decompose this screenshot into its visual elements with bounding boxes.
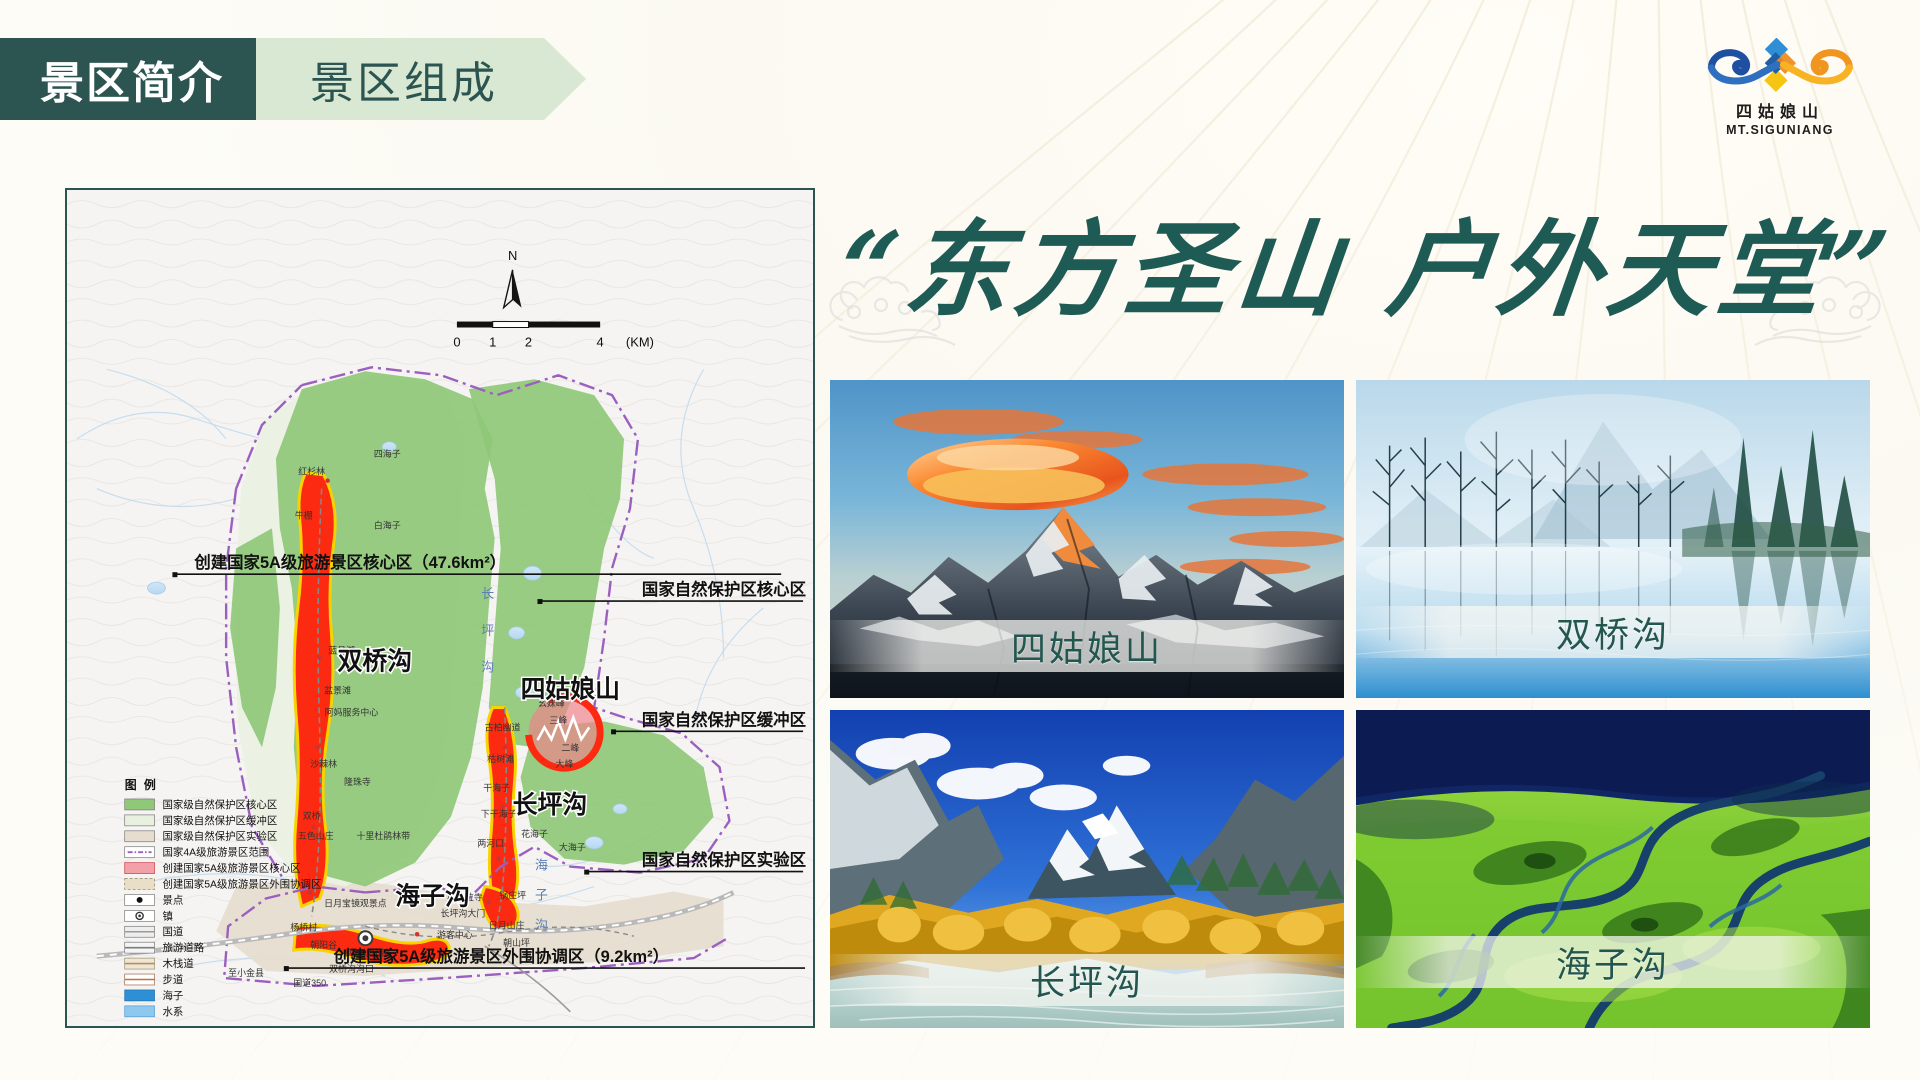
svg-text:国道: 国道 bbox=[162, 925, 183, 938]
siguniang-ribbon-logo-icon bbox=[1702, 38, 1859, 96]
svg-text:4: 4 bbox=[597, 334, 604, 349]
scenic-area-map[interactable]: 幺妹峰 三峰 二峰 大峰 红杉林 牛棚 白海子 四海子 蓝月湖 盆景滩 bbox=[65, 188, 815, 1028]
slogan-text: “东方圣山 户外天堂” bbox=[832, 195, 1878, 345]
svg-text:日月宝镜观景点: 日月宝镜观景点 bbox=[324, 897, 387, 908]
svg-text:四姑娘山: 四姑娘山 bbox=[521, 675, 620, 704]
svg-text:坪: 坪 bbox=[481, 623, 496, 638]
photo-caption-siguniangshan: 四姑娘山 bbox=[830, 620, 1344, 672]
svg-text:创建国家5A级旅游景区外围协调区（9.2km²）: 创建国家5A级旅游景区外围协调区（9.2km²） bbox=[333, 947, 669, 966]
svg-text:1: 1 bbox=[489, 334, 496, 349]
svg-text:白海子: 白海子 bbox=[374, 519, 401, 530]
svg-text:国道350: 国道350 bbox=[293, 977, 326, 988]
tab-section-intro[interactable]: 景区简介 bbox=[0, 38, 300, 120]
svg-text:三峰: 三峰 bbox=[549, 715, 567, 725]
svg-text:国家自然保护区核心区: 国家自然保护区核心区 bbox=[642, 580, 806, 599]
svg-text:下干海子: 下干海子 bbox=[481, 808, 517, 819]
logo-chinese-name: 四姑娘山 bbox=[1692, 98, 1868, 122]
svg-text:国家级自然保护区缓冲区: 国家级自然保护区缓冲区 bbox=[162, 814, 277, 827]
logo-english-name: MT.SIGUNIANG bbox=[1692, 123, 1868, 137]
svg-text:至小金县: 至小金县 bbox=[228, 967, 264, 978]
svg-text:海: 海 bbox=[535, 858, 550, 873]
svg-text:长坪沟: 长坪沟 bbox=[513, 790, 588, 819]
photo-caption-changpinggou: 长坪沟 bbox=[830, 954, 1344, 1006]
svg-text:古柏幽道: 古柏幽道 bbox=[485, 721, 521, 732]
svg-text:国家自然保护区缓冲区: 国家自然保护区缓冲区 bbox=[642, 710, 806, 729]
svg-text:大海子: 大海子 bbox=[559, 842, 586, 853]
svg-text:创建国家5A级旅游景区核心区: 创建国家5A级旅游景区核心区 bbox=[162, 862, 300, 875]
svg-text:海子沟: 海子沟 bbox=[395, 881, 470, 910]
photo-card-changpinggou[interactable]: 长坪沟 bbox=[830, 710, 1344, 1028]
svg-text:步道: 步道 bbox=[162, 973, 183, 986]
svg-text:长: 长 bbox=[481, 586, 496, 601]
svg-text:镇: 镇 bbox=[162, 909, 172, 922]
svg-text:干海子: 干海子 bbox=[483, 782, 510, 793]
map-canvas: 幺妹峰 三峰 二峰 大峰 红杉林 牛棚 白海子 四海子 蓝月湖 盆景滩 bbox=[67, 190, 813, 1026]
svg-text:十里杜鹃林带: 十里杜鹃林带 bbox=[356, 830, 410, 841]
section-header-banner: 景区简介 景区组成 bbox=[0, 38, 586, 120]
svg-text:红杉林: 红杉林 bbox=[298, 466, 325, 477]
svg-text:创建国家5A级旅游景区外围协调区: 创建国家5A级旅游景区外围协调区 bbox=[162, 878, 321, 891]
svg-text:游客中心: 游客中心 bbox=[437, 929, 473, 940]
svg-text:两河口: 两河口 bbox=[477, 838, 504, 849]
svg-text:阿妈服务中心: 阿妈服务中心 bbox=[325, 706, 379, 717]
photo-card-haizigou[interactable]: 海子沟 bbox=[1356, 710, 1870, 1028]
svg-text:国家级自然保护区核心区: 国家级自然保护区核心区 bbox=[162, 798, 277, 811]
svg-text:杨桥村: 杨桥村 bbox=[290, 921, 317, 932]
svg-text:水系: 水系 bbox=[162, 1006, 183, 1018]
town-marker bbox=[358, 931, 372, 945]
svg-text:四海子: 四海子 bbox=[374, 448, 401, 459]
svg-text:旅游道路: 旅游道路 bbox=[162, 941, 204, 954]
svg-text:锅庄坪: 锅庄坪 bbox=[499, 889, 526, 900]
photo-caption-haizigou: 海子沟 bbox=[1356, 936, 1870, 988]
svg-text:海子: 海子 bbox=[162, 989, 183, 1002]
svg-text:五色山庄: 五色山庄 bbox=[298, 830, 334, 841]
svg-text:双桥: 双桥 bbox=[303, 810, 321, 821]
svg-text:创建国家5A级旅游景区核心区（47.6km²）: 创建国家5A级旅游景区核心区（47.6km²） bbox=[193, 553, 506, 572]
svg-text:沙棘林: 沙棘林 bbox=[310, 758, 337, 769]
svg-text:大峰: 大峰 bbox=[555, 758, 573, 769]
photo-card-siguniangshan[interactable]: 四姑娘山 bbox=[830, 380, 1344, 698]
svg-text:木栈道: 木栈道 bbox=[162, 957, 194, 970]
svg-text:景点: 景点 bbox=[162, 894, 183, 906]
tab-section-composition[interactable]: 景区组成 bbox=[256, 38, 586, 120]
svg-text:双桥沟: 双桥沟 bbox=[338, 647, 413, 676]
scenic-photo-grid: 四姑娘山 bbox=[830, 380, 1870, 1028]
svg-text:国家自然保护区实验区: 国家自然保护区实验区 bbox=[642, 851, 806, 870]
slogan-calligraphy: “东方圣山 户外天堂” bbox=[840, 195, 1870, 345]
svg-text:日月山庄: 日月山庄 bbox=[489, 919, 525, 930]
svg-text:二峰: 二峰 bbox=[561, 743, 579, 753]
photo-card-shuangqiaogou[interactable]: 双桥沟 bbox=[1356, 380, 1870, 698]
photo-caption-shuangqiaogou: 双桥沟 bbox=[1356, 606, 1870, 658]
svg-text:牛棚: 牛棚 bbox=[295, 509, 313, 520]
svg-text:沟: 沟 bbox=[535, 917, 550, 932]
brand-logo: 四姑娘山 MT.SIGUNIANG bbox=[1692, 38, 1868, 137]
svg-text:N: N bbox=[508, 248, 517, 263]
svg-text:国家级自然保护区实验区: 国家级自然保护区实验区 bbox=[162, 830, 277, 843]
svg-text:0: 0 bbox=[453, 334, 460, 349]
svg-text:朝山坪: 朝山坪 bbox=[503, 938, 530, 948]
svg-text:2: 2 bbox=[525, 334, 532, 349]
svg-text:子: 子 bbox=[535, 887, 550, 902]
svg-text:盆景滩: 盆景滩 bbox=[324, 685, 351, 696]
svg-text:图 例: 图 例 bbox=[125, 778, 158, 792]
svg-text:(KM): (KM) bbox=[626, 334, 654, 349]
svg-text:国家4A级旅游景区范围: 国家4A级旅游景区范围 bbox=[162, 846, 269, 859]
svg-text:花海子: 花海子 bbox=[521, 828, 548, 839]
svg-text:枯树滩: 枯树滩 bbox=[487, 753, 514, 764]
svg-text:隆珠寺: 隆珠寺 bbox=[344, 776, 371, 787]
svg-text:沟: 沟 bbox=[481, 660, 496, 675]
